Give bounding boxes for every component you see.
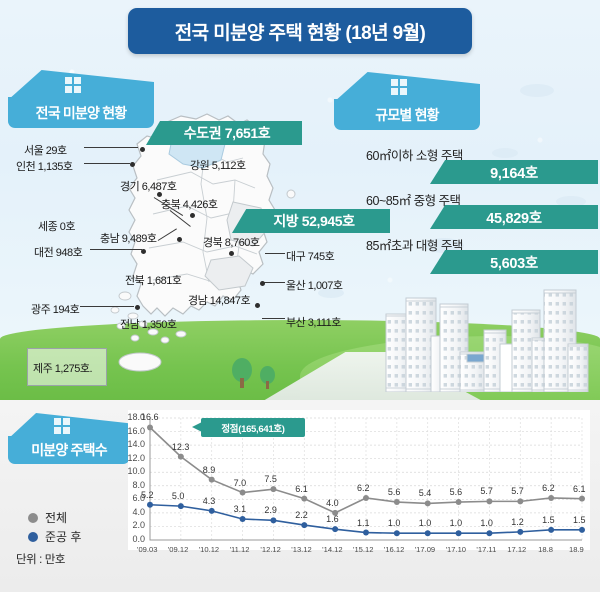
- chart-value-label: 1.0: [450, 518, 463, 528]
- chart-point: [456, 499, 462, 505]
- chart-point: [209, 508, 215, 514]
- size-breakdown-panel: 60㎡이하 소형 주택 9,164호 60~85㎡ 중형 주택 45,829호 …: [352, 145, 600, 275]
- chart-point: [425, 500, 431, 506]
- x-axis-tick: '14.12: [322, 545, 342, 554]
- y-axis-tick: 12.0: [119, 453, 145, 463]
- y-axis-tick: 10.0: [119, 466, 145, 476]
- map-label-daegu: 대구 745호: [286, 248, 334, 264]
- chart-point: [301, 522, 307, 528]
- chart-point: [240, 516, 246, 522]
- chart-value-label: 1.0: [480, 518, 493, 528]
- ribbon-metro-text: 수도권 7,651호: [184, 123, 270, 143]
- chart-value-label: 5.4: [419, 488, 432, 498]
- chart-value-label: 1.5: [573, 515, 586, 525]
- chart-value-label: 5.7: [480, 486, 493, 496]
- chart-point: [240, 490, 246, 496]
- size-value-small: 9,164호: [430, 160, 598, 184]
- chart-point: [517, 498, 523, 504]
- chart-value-label: 6.1: [295, 484, 308, 494]
- chart-value-label: 6.1: [573, 484, 586, 494]
- map-label-jeonbuk: 전북 1,681호: [125, 272, 181, 288]
- chart-point: [486, 530, 492, 536]
- map-dot-gwangju: [135, 305, 140, 310]
- chart-value-label: 1.6: [326, 514, 339, 524]
- y-axis-tick: 14.0: [119, 439, 145, 449]
- x-axis-tick: 18.9: [569, 545, 584, 554]
- leader-line-busan: [262, 318, 285, 319]
- tree-trunk-icon: [266, 381, 269, 389]
- chart-point: [147, 424, 153, 430]
- chart-value-label: 7.0: [234, 478, 247, 488]
- chart-value-label: 1.1: [357, 518, 370, 528]
- map-label-sejong: 세종 0호: [38, 218, 75, 234]
- x-axis-tick: 17.12: [507, 545, 526, 554]
- infographic-root: 전국 미분양 주택 현황 (18년 9월) 전국 미분양 현황 규모별 현황: [0, 0, 600, 592]
- map-label-gyeongbuk: 경북 8,760호: [203, 234, 259, 250]
- house-window-icon: [391, 79, 408, 96]
- map-label-gyeongnam: 경남 14,847호: [188, 292, 250, 308]
- chart-value-label: 5.7: [511, 486, 524, 496]
- map-ulleung-island: [287, 190, 295, 198]
- map-dot-gyeongbuk: [229, 251, 234, 256]
- peak-callout: 정점(165,641호): [201, 418, 305, 437]
- leader-line-gwangju: [80, 306, 134, 307]
- badge-body: 규모별 현황: [334, 99, 480, 130]
- map-dot-incheon: [130, 162, 135, 167]
- y-axis-tick: 16.0: [119, 426, 145, 436]
- tree-trunk-icon: [240, 378, 244, 388]
- y-axis-tick: 4.0: [119, 507, 145, 517]
- x-axis-tick: '17.09: [415, 545, 435, 554]
- chart-point: [178, 503, 184, 509]
- x-axis-tick: '09.12: [168, 545, 188, 554]
- map-label-jeonnam: 전남 1,350호: [120, 316, 176, 332]
- map-label-seoul: 서울 29호: [24, 142, 67, 158]
- leader-line-daegu: [265, 253, 285, 254]
- y-axis-tick: 2.0: [119, 520, 145, 530]
- x-axis-tick: '13.12: [291, 545, 311, 554]
- map-label-gangwon: 강원 5,112호: [190, 157, 246, 173]
- chart-value-label: 1.5: [542, 515, 555, 525]
- chart-value-label: 4.3: [203, 496, 216, 506]
- chart-value-label: 1.0: [419, 518, 432, 528]
- chart-point: [394, 499, 400, 505]
- chart-value-label: 2.9: [264, 505, 277, 515]
- chart-value-label: 5.2: [141, 490, 154, 500]
- leader-line-seoul: [84, 147, 138, 148]
- chart-point: [456, 530, 462, 536]
- chart-point: [363, 495, 369, 501]
- size-row-small: 60㎡이하 소형 주택 9,164호: [352, 145, 600, 185]
- chart-value-label: 2.2: [295, 510, 308, 520]
- chart-point: [548, 527, 554, 533]
- chart-value-label: 3.1: [234, 504, 247, 514]
- x-axis-tick: '12.12: [260, 545, 280, 554]
- chart-value-label: 5.0: [172, 491, 185, 501]
- chart-value-label: 6.2: [357, 483, 370, 493]
- size-value-medium: 45,829호: [430, 205, 598, 229]
- chart-point: [270, 517, 276, 523]
- leader-line-incheon: [84, 163, 130, 164]
- size-row-medium: 60~85㎡ 중형 주택 45,829호: [352, 190, 600, 230]
- chart-point: [579, 527, 585, 533]
- chart-value-label: 1.2: [511, 517, 524, 527]
- chart-point: [209, 477, 215, 483]
- map-label-incheon: 인천 1,135호: [16, 158, 72, 174]
- chart-point: [517, 529, 523, 535]
- cloud-icon: [520, 84, 554, 97]
- chart-value-label: 7.5: [264, 474, 277, 484]
- ribbon-local-text: 지방 52,945호: [273, 211, 354, 231]
- x-axis-tick: 18.8: [538, 545, 553, 554]
- house-window-icon: [65, 77, 82, 94]
- chart-value-label: 5.6: [450, 487, 463, 497]
- map-dot-daejeon: [141, 249, 146, 254]
- map-dot-chungbuk: [190, 213, 195, 218]
- chart-point: [425, 530, 431, 536]
- ribbon-metro-total: 수도권 7,651호: [146, 121, 302, 145]
- x-axis-tick: '11.12: [230, 545, 250, 554]
- leader-line-ulsan: [262, 282, 285, 283]
- leader-line-daejeon: [90, 249, 142, 250]
- page-title-text: 전국 미분양 주택 현황 (18년 9월): [175, 18, 425, 45]
- map-dot-gyeonggi: [157, 192, 162, 197]
- apartment-buildings-illustration: [372, 282, 600, 392]
- map-label-busan: 부산 3,111호: [286, 314, 341, 330]
- size-value-large: 5,603호: [430, 250, 598, 274]
- chart-point: [270, 486, 276, 492]
- map-label-jeju: 제주 1,275호.: [33, 360, 92, 376]
- chart-point: [579, 496, 585, 502]
- map-dot-busan: [255, 303, 260, 308]
- chart-point: [394, 530, 400, 536]
- map-dot-chungnam: [177, 237, 182, 242]
- y-axis-tick: 8.0: [119, 480, 145, 490]
- badge-by-size: 규모별 현황: [334, 72, 480, 134]
- chart-point: [178, 454, 184, 460]
- map-dot-seoul: [140, 147, 145, 152]
- buildings-svg: [372, 282, 600, 392]
- chart-point: [363, 530, 369, 536]
- chart-point: [548, 495, 554, 501]
- map-label-chungnam: 충남 9,489호: [100, 230, 156, 246]
- map-label-daejeon: 대전 948호: [34, 244, 82, 260]
- map-label-gyeonggi: 경기 6,487호: [120, 178, 176, 194]
- chart-point: [301, 496, 307, 502]
- chart-value-label: 5.6: [388, 487, 401, 497]
- chart-value-label: 12.3: [172, 442, 190, 452]
- x-axis-tick: '15.12: [353, 545, 373, 554]
- map-dot-ulsan: [260, 281, 265, 286]
- y-axis-tick: 0.0: [119, 534, 145, 544]
- chart-value-label: 16.6: [141, 412, 159, 422]
- chart-value-label: 8.9: [203, 465, 216, 475]
- badge-right-label: 규모별 현황: [375, 105, 439, 125]
- chart-point: [486, 498, 492, 504]
- peak-callout-text: 정점(165,641호): [221, 421, 284, 435]
- size-row-large: 85㎡초과 대형 주택 5,603호: [352, 235, 600, 275]
- x-axis-tick: '10.12: [199, 545, 219, 554]
- chart-point: [332, 526, 338, 532]
- chart-value-label: 1.0: [388, 518, 401, 528]
- x-axis-tick: '09.03: [137, 545, 157, 554]
- chart-value-label: 6.2: [542, 483, 555, 493]
- chart-value-label: 4.0: [326, 498, 339, 508]
- page-title: 전국 미분양 주택 현황 (18년 9월): [128, 8, 472, 54]
- x-axis-tick: '16.12: [384, 545, 404, 554]
- x-axis-tick: '17.11: [476, 545, 496, 554]
- chart-point: [147, 502, 153, 508]
- x-axis-tick: '17.10: [446, 545, 466, 554]
- map-label-ulsan: 울산 1,007호: [286, 277, 342, 293]
- map-label-gwangju: 광주 194호: [31, 301, 79, 317]
- map-jeju-island: [119, 353, 161, 371]
